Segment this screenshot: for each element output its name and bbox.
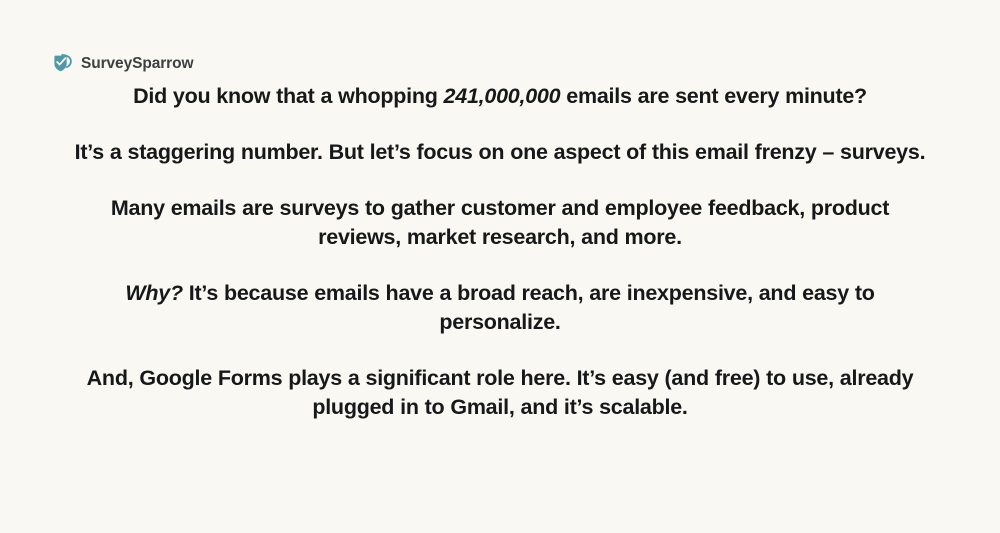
surveysparrow-shield-check-icon (52, 53, 74, 75)
emphasis-text: 241,000,000 (444, 84, 561, 108)
brand-logo: SurveySparrow (52, 51, 193, 77)
body-text: emails are sent every minute? (560, 84, 867, 108)
body-text: Many emails are surveys to gather custom… (111, 196, 889, 249)
paragraph-staggering-number: It’s a staggering number. But let’s focu… (70, 138, 930, 167)
body-text: It’s because emails have a broad reach, … (183, 281, 875, 334)
slide-body: Did you know that a whopping 241,000,000… (70, 82, 930, 422)
paragraph-survey-purposes: Many emails are surveys to gather custom… (70, 194, 930, 252)
body-text: Did you know that a whopping (133, 84, 443, 108)
brand-name: SurveySparrow (81, 56, 193, 72)
emphasis-text: Why? (125, 281, 183, 305)
slide-canvas: SurveySparrow Did you know that a whoppi… (0, 0, 1000, 533)
body-text: It’s a staggering number. But let’s focu… (75, 140, 926, 164)
paragraph-why-emails: Why? It’s because emails have a broad re… (70, 279, 930, 337)
body-text: And, Google Forms plays a significant ro… (87, 366, 914, 419)
paragraph-google-forms-role: And, Google Forms plays a significant ro… (70, 364, 930, 422)
paragraph-stat-hook: Did you know that a whopping 241,000,000… (70, 82, 930, 111)
